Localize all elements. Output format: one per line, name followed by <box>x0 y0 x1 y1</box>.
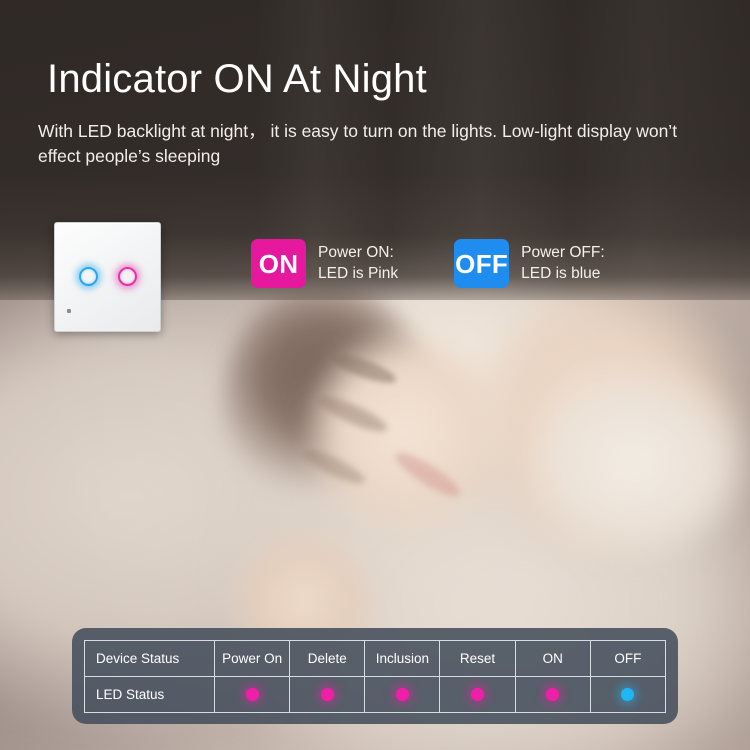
switch-panel[interactable] <box>54 222 161 332</box>
row-label-device-status: Device Status <box>85 640 215 676</box>
header-block: Indicator ON At Night With LED backlight… <box>47 58 727 169</box>
legend-text-power-off: Power OFF: LED is blue <box>521 243 605 285</box>
status-table-panel: Device Status Power On Delete Inclusion … <box>72 628 678 724</box>
column-header-inclusion: Inclusion <box>365 640 440 676</box>
led-dot-pink-icon <box>396 688 409 701</box>
badge-on: ON <box>251 239 306 288</box>
led-dot-blue-icon <box>621 688 634 701</box>
led-cell-inclusion <box>365 676 440 712</box>
led-dot-pink-icon <box>246 688 259 701</box>
table-row-device-status: Device Status Power On Delete Inclusion … <box>85 640 666 676</box>
legend-line-1: Power OFF: <box>521 243 605 264</box>
led-cell-delete <box>290 676 365 712</box>
legend-item-power-off: OFF Power OFF: LED is blue <box>454 239 605 288</box>
led-cell-on <box>515 676 590 712</box>
led-dot-pink-icon <box>321 688 334 701</box>
badge-off: OFF <box>454 239 509 288</box>
column-header-reset: Reset <box>440 640 515 676</box>
page-root: Indicator ON At Night With LED backlight… <box>0 0 750 750</box>
column-header-off: OFF <box>590 640 665 676</box>
legend-group: ON Power ON: LED is Pink OFF Power OFF: … <box>251 239 605 288</box>
led-dot-pink-icon <box>471 688 484 701</box>
led-cell-power-on <box>215 676 290 712</box>
column-header-power-on: Power On <box>215 640 290 676</box>
row-label-led-status: LED Status <box>85 676 215 712</box>
column-header-delete: Delete <box>290 640 365 676</box>
column-header-on: ON <box>515 640 590 676</box>
legend-item-power-on: ON Power ON: LED is Pink <box>251 239 398 288</box>
led-dot-pink-icon <box>546 688 559 701</box>
legend-line-2: LED is blue <box>521 264 605 285</box>
led-cell-off <box>590 676 665 712</box>
page-title: Indicator ON At Night <box>47 58 727 100</box>
status-table: Device Status Power On Delete Inclusion … <box>84 640 666 713</box>
page-subtitle: With LED backlight at night， it is easy … <box>38 119 688 169</box>
led-indicator-blue-icon[interactable] <box>79 267 98 286</box>
switch-led-row <box>55 267 160 286</box>
led-indicator-pink-icon[interactable] <box>118 267 137 286</box>
led-cell-reset <box>440 676 515 712</box>
legend-text-power-on: Power ON: LED is Pink <box>318 243 398 285</box>
legend-line-1: Power ON: <box>318 243 398 264</box>
table-row-led-status: LED Status <box>85 676 666 712</box>
legend-line-2: LED is Pink <box>318 264 398 285</box>
sensor-dot-icon <box>67 309 71 313</box>
